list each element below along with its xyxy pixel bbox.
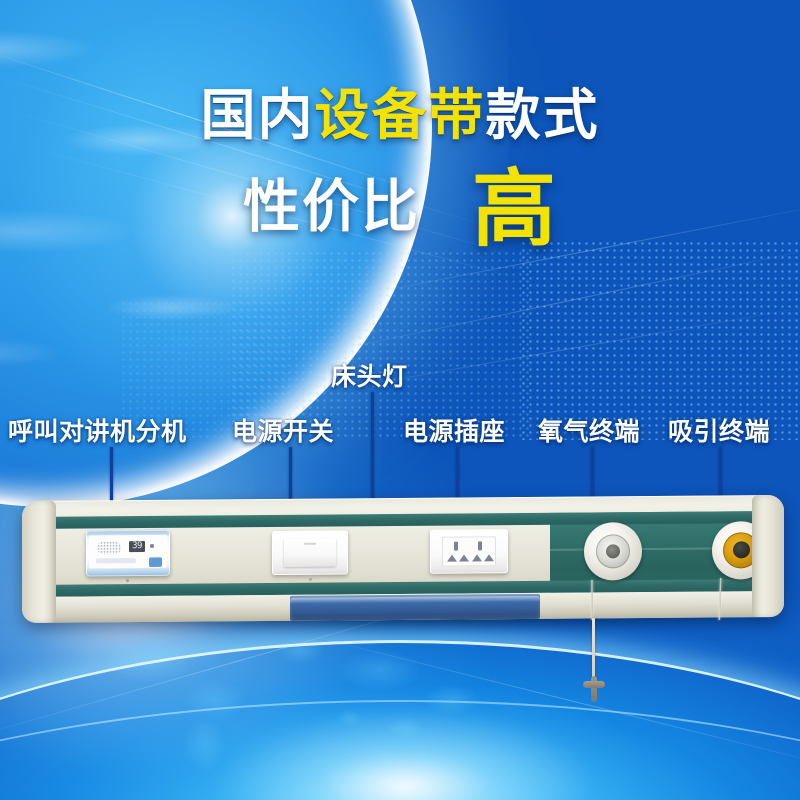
- nurse-call-button[interactable]: [149, 557, 162, 567]
- power-socket[interactable]: [430, 529, 508, 574]
- power-switch[interactable]: [272, 530, 348, 575]
- oxygen-terminal-port-icon: [606, 544, 620, 558]
- suction-terminal-port-icon: [733, 541, 750, 558]
- socket-pin-right-icon: [478, 541, 482, 550]
- callout-label-oxygen: 氧气终端: [538, 412, 640, 448]
- speaker-grille-icon: [97, 541, 121, 554]
- panel-body: 39: [22, 495, 784, 623]
- socket-prong-4-icon: [484, 554, 494, 561]
- callout-label-power-socket: 电源插座: [403, 412, 505, 448]
- oxygen-terminal[interactable]: [584, 522, 642, 580]
- oxygen-cord: [591, 580, 593, 620]
- nurse-call-intercom[interactable]: 39: [86, 530, 170, 577]
- panel-end-cap-left: [22, 501, 56, 623]
- socket-prong-2-icon: [459, 554, 469, 561]
- nurse-call-screw: [126, 579, 129, 582]
- callout-label-bed-lamp: 床头灯: [331, 357, 408, 393]
- rocker-switch-icon[interactable]: [284, 539, 336, 567]
- bed-head-unit[interactable]: 39: [22, 498, 784, 628]
- panel-end-cap-right: [752, 495, 784, 617]
- callout-label-suction: 吸引终端: [668, 412, 770, 448]
- socket-faceplate: [442, 536, 496, 566]
- nurse-call-faceplate: 39: [89, 535, 167, 569]
- callout-label-nurse-call: 呼叫对讲机分机: [8, 412, 187, 448]
- callout-label-power-switch: 电源开关: [232, 412, 334, 448]
- power-switch-screw: [309, 578, 312, 581]
- nurse-call-display: 39: [129, 541, 145, 552]
- status-led-icon: [150, 544, 154, 548]
- oxygen-terminal-ring: [596, 534, 630, 568]
- nurse-call-label-strip: [96, 558, 136, 563]
- promo-banner: 国内设备带款式 性价比 高 床头灯 呼叫对讲机分机 电源开关 电源插座 氧气终端…: [0, 0, 800, 800]
- pull-cord-handle-icon[interactable]: [583, 676, 605, 702]
- socket-prong-1-icon: [447, 555, 457, 562]
- socket-prong-3-icon: [472, 554, 482, 561]
- socket-pin-left-icon: [454, 542, 458, 551]
- callout-layer: 床头灯 呼叫对讲机分机 电源开关 电源插座 氧气终端 吸引终端: [0, 0, 800, 800]
